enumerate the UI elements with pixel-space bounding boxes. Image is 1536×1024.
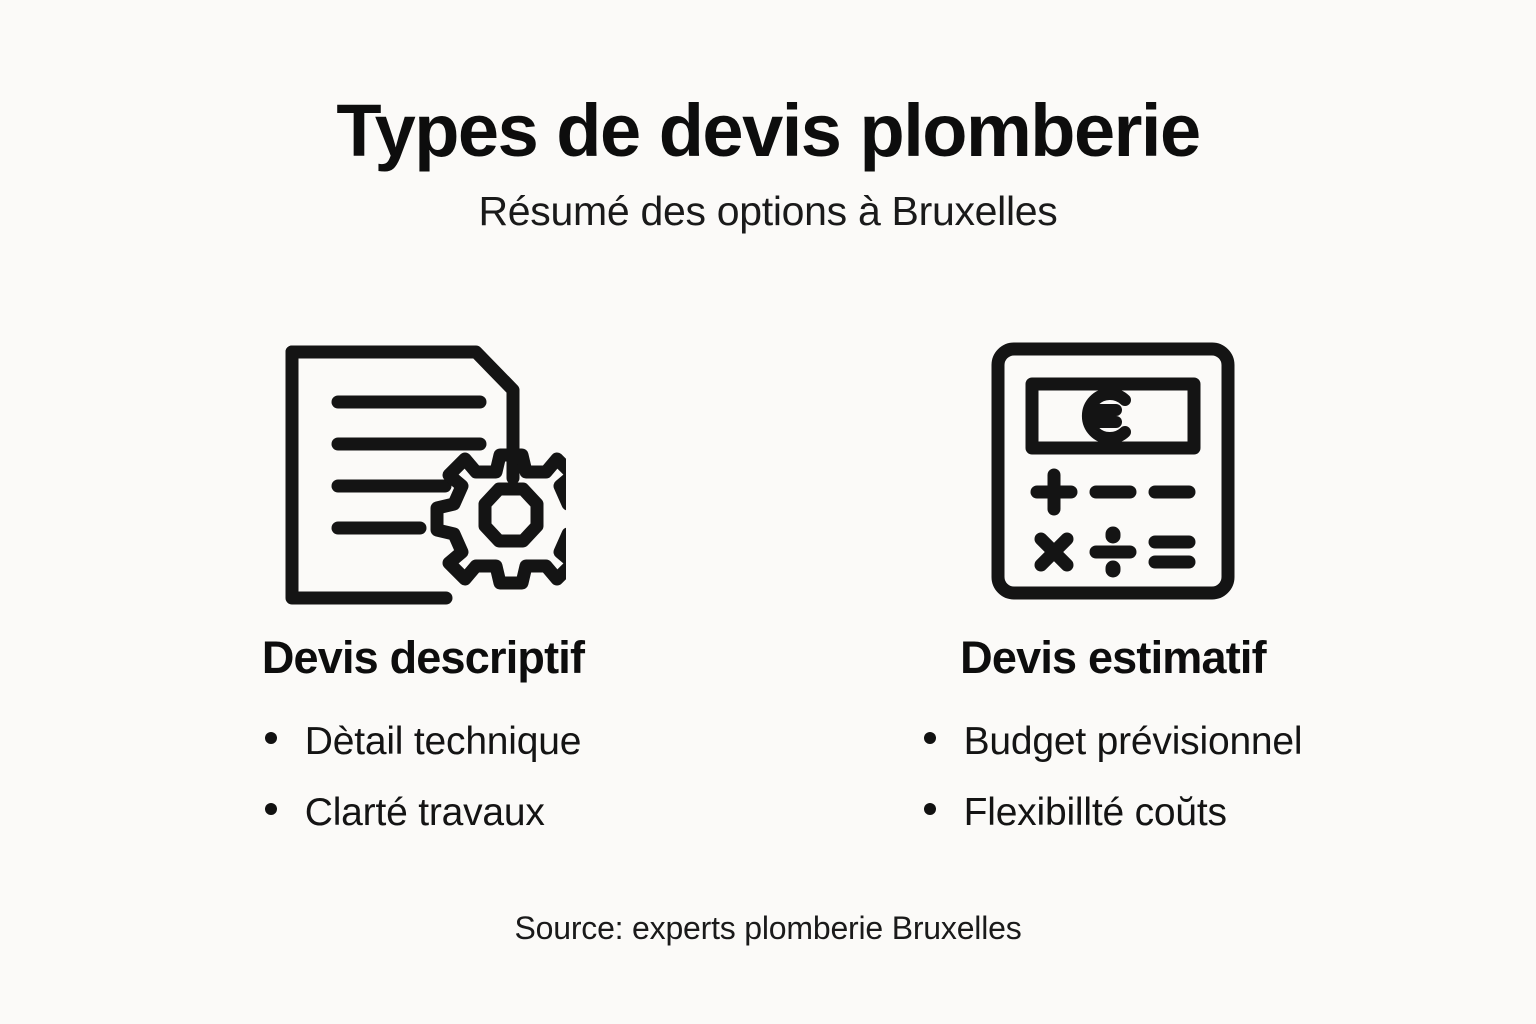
cards-container: Devis descriptif Dètail technique Clarté… xyxy=(0,340,1536,862)
document-left-bottom-outline xyxy=(292,352,446,598)
bullet-dot-icon xyxy=(265,732,277,744)
bullet-dot-icon xyxy=(265,803,277,815)
key-equals-icon xyxy=(1155,542,1189,562)
calculator-euro-icon xyxy=(989,340,1237,612)
calculator-keys-row-1 xyxy=(1037,475,1189,509)
bullet-label: Flexibillté coŭts xyxy=(964,791,1227,836)
list-item: Dètail technique xyxy=(265,720,581,765)
bullet-label: Dètail technique xyxy=(305,720,581,765)
calculator-euro-icon-svg xyxy=(989,340,1237,602)
bullet-label: Clarté travaux xyxy=(305,791,545,836)
gear-outer xyxy=(437,455,566,583)
calculator-keys-row-2 xyxy=(1041,534,1189,570)
bullet-dot-icon xyxy=(924,732,936,744)
key-multiply-icon xyxy=(1041,539,1067,565)
key-divide-icon xyxy=(1096,534,1130,570)
card-devis-descriptif: Devis descriptif Dètail technique Clarté… xyxy=(78,340,768,862)
bullet-list-estimatif: Budget prévisionnel Flexibillté coŭts xyxy=(924,720,1303,862)
gear-glyph xyxy=(437,455,566,583)
document-gear-icon xyxy=(280,340,566,612)
page-title: Types de devis plomberie xyxy=(0,92,1536,170)
bullet-list-descriptif: Dètail technique Clarté travaux xyxy=(265,720,581,862)
header: Types de devis plomberie Résumé des opti… xyxy=(0,92,1536,235)
key-plus-icon xyxy=(1037,475,1071,509)
card-heading-estimatif: Devis estimatif xyxy=(960,632,1266,684)
list-item: Flexibillté coŭts xyxy=(924,791,1303,836)
bullet-label: Budget prévisionnel xyxy=(964,720,1303,765)
list-item: Clarté travaux xyxy=(265,791,581,836)
gear-inner-hole xyxy=(485,489,537,541)
card-heading-descriptif: Devis descriptif xyxy=(262,632,584,684)
source-caption: Source: experts plomberie Bruxelles xyxy=(0,910,1536,947)
euro-icon xyxy=(1088,394,1125,438)
card-devis-estimatif: Devis estimatif Budget prévisionnel Flex… xyxy=(768,340,1458,862)
bullet-dot-icon xyxy=(924,803,936,815)
page-subtitle: Résumé des options à Bruxelles xyxy=(0,188,1536,235)
document-top-outline xyxy=(292,352,513,478)
infographic-root: Types de devis plomberie Résumé des opti… xyxy=(0,0,1536,1024)
document-gear-icon-svg xyxy=(280,340,566,612)
list-item: Budget prévisionnel xyxy=(924,720,1303,765)
